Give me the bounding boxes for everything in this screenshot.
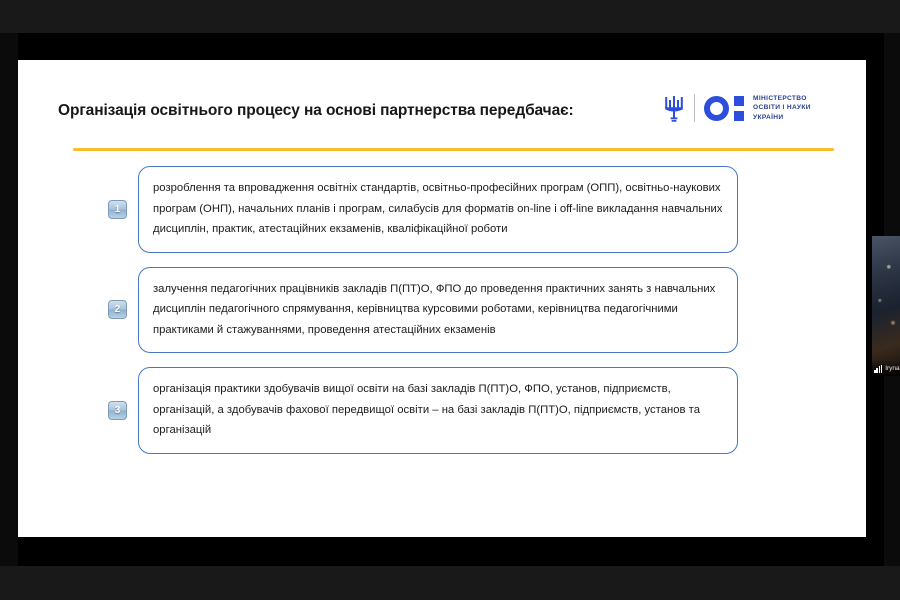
- square-bottom: [734, 111, 744, 121]
- participant-video-tile[interactable]: Iryna: [872, 236, 900, 376]
- square-top: [734, 96, 744, 106]
- item-callout: залучення педагогічних працівників закла…: [138, 267, 738, 354]
- item-text: організація практики здобувачів вищої ос…: [153, 379, 723, 441]
- page-title: Організація освітнього процесу на основі…: [58, 102, 574, 120]
- participant-video-feed: [872, 236, 900, 376]
- title-divider: [73, 148, 834, 151]
- logo-divider: [694, 94, 695, 122]
- participant-name-bar: Iryna: [872, 361, 900, 376]
- item-text: залучення педагогічних працівників закла…: [153, 279, 723, 341]
- ministry-logo: МІНІСТЕРСТВО ОСВІТИ І НАУКИ УКРАЇНИ: [663, 87, 811, 129]
- top-band: [0, 0, 900, 33]
- ring-shape: [704, 96, 729, 121]
- list-item: 1 розроблення та впровадження освітніх с…: [18, 166, 866, 253]
- ministry-logo-line-3: УКРАЇНИ: [753, 113, 811, 123]
- list-item: 2 залучення педагогічних працівників зак…: [18, 267, 866, 354]
- mon-ring-squares-icon: [704, 96, 744, 121]
- bottom-band: [0, 566, 900, 600]
- meeting-stage: Організація освітнього процесу на основі…: [0, 0, 900, 600]
- numbered-items-list: 1 розроблення та впровадження освітніх с…: [18, 166, 866, 468]
- ministry-logo-line-1: МІНІСТЕРСТВО: [753, 94, 811, 104]
- signal-strength-icon: [874, 365, 883, 373]
- item-callout: розроблення та впровадження освітніх ста…: [138, 166, 738, 253]
- ukraine-trident-icon: [663, 93, 685, 123]
- presentation-slide: Організація освітнього процесу на основі…: [18, 60, 866, 537]
- slide-header: Організація освітнього процесу на основі…: [18, 60, 866, 146]
- item-number-badge: 3: [108, 401, 127, 420]
- item-text: розроблення та впровадження освітніх ста…: [153, 178, 723, 240]
- list-item: 3 організація практики здобувачів вищої …: [18, 367, 866, 454]
- item-callout: організація практики здобувачів вищої ос…: [138, 367, 738, 454]
- item-number-badge: 2: [108, 300, 127, 319]
- participant-name: Iryna: [885, 365, 899, 372]
- item-number-badge: 1: [108, 200, 127, 219]
- squares-column: [734, 96, 744, 121]
- ministry-logo-line-2: ОСВІТИ І НАУКИ: [753, 103, 811, 113]
- ministry-logo-text: МІНІСТЕРСТВО ОСВІТИ І НАУКИ УКРАЇНИ: [753, 94, 811, 123]
